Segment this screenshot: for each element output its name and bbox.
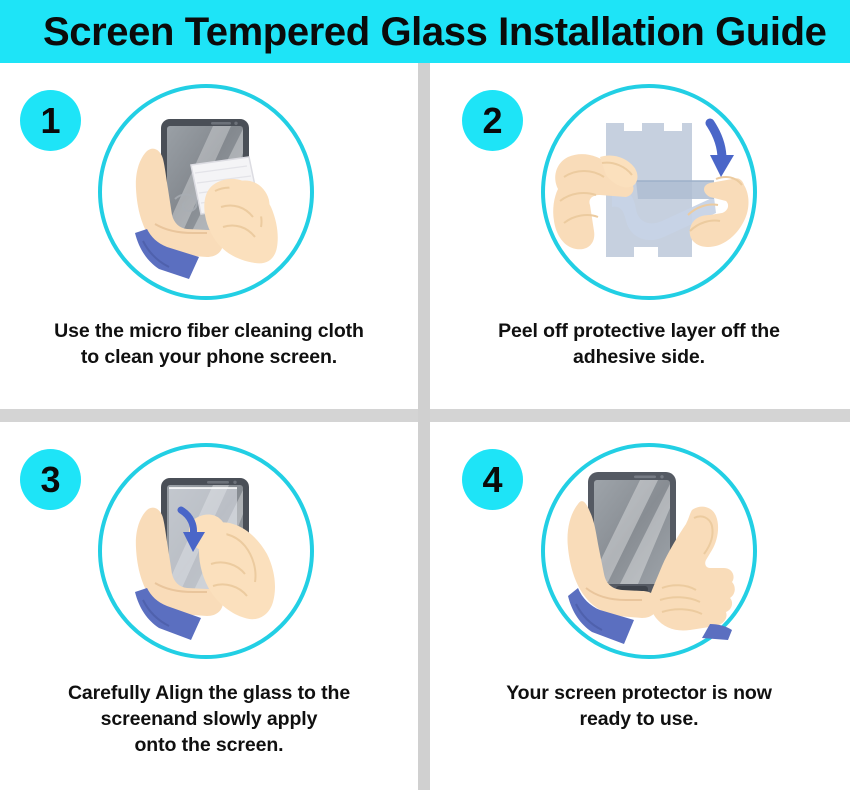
step-panel-3: 3 [0, 422, 418, 798]
step-panel-2: 2 [430, 63, 848, 409]
step-panel-4: 4 [430, 422, 848, 798]
step-caption-4: Your screen protector is now ready to us… [430, 680, 848, 732]
hand-cleaning-phone-with-cloth-icon [95, 81, 317, 303]
hands-peeling-protective-layer-icon [538, 81, 760, 303]
step-caption-1: Use the micro fiber cleaning cloth to cl… [0, 318, 418, 370]
step-caption-2: Peel off protective layer off the adhesi… [430, 318, 848, 370]
step-number-badge-1: 1 [20, 90, 81, 151]
installation-guide-infographic: Screen Tempered Glass Installation Guide… [0, 0, 850, 798]
step-caption-3: Carefully Align the glass to the screena… [0, 680, 418, 758]
header-bar: Screen Tempered Glass Installation Guide [0, 0, 850, 63]
step-number-badge-2: 2 [462, 90, 523, 151]
step-number-badge-3: 3 [20, 449, 81, 510]
hand-aligning-glass-on-phone-icon [95, 440, 317, 662]
step-panel-1: 1 [0, 63, 418, 409]
steps-grid: 1 [0, 63, 850, 798]
page-title: Screen Tempered Glass Installation Guide [0, 12, 827, 52]
hand-holding-phone-thumbs-up-icon [538, 440, 760, 662]
step-number-badge-4: 4 [462, 449, 523, 510]
